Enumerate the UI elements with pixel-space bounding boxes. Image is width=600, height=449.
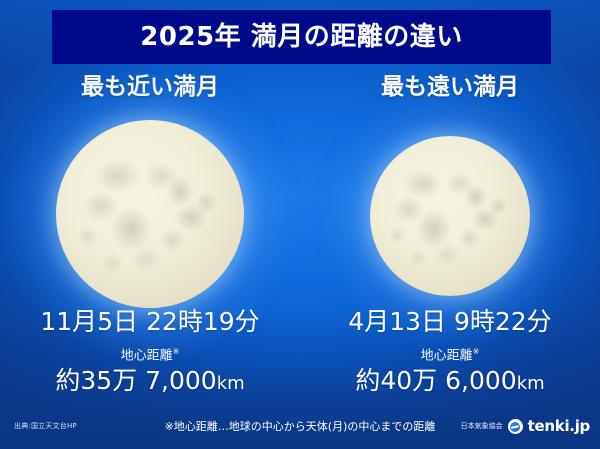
- page-title: 2025年 満月の距離の違い: [140, 24, 462, 50]
- distance-label-text-nearest: 地心距離: [121, 348, 173, 363]
- tenki-globe-icon: [508, 419, 523, 434]
- column-heading-nearest: 最も近い満月: [0, 66, 300, 99]
- distance-label-mark-nearest: ※: [173, 347, 180, 356]
- brand-logo: 日本気象協会 tenki.jp: [461, 419, 590, 434]
- moon-datetime-farthest: 4月13日 9時22分: [300, 309, 600, 334]
- moon-disc-nearest: [56, 120, 244, 308]
- distance-unit-nearest: km: [217, 373, 245, 394]
- distance-number-nearest: 約35万 7,000: [55, 366, 216, 395]
- distance-label-mark-farthest: ※: [473, 347, 480, 356]
- distance-label-nearest: 地心距離※: [0, 348, 300, 362]
- distance-label-text-farthest: 地心距離: [421, 348, 473, 363]
- moon-disc-farthest: [370, 136, 530, 296]
- column-heading-farthest: 最も遠い満月: [300, 66, 600, 99]
- distance-value-nearest: 約35万 7,000km: [0, 368, 300, 393]
- footer-bar: 出典:国立天文台HP ※地心距離…地球の中心から天体(月)の中心までの距離 日本…: [0, 409, 600, 449]
- moon-image-nearest: [56, 120, 244, 308]
- column-nearest-full-moon: 最も近い満月 11月5日 22時19分 地心距離※ 約35万 7,000km: [0, 66, 300, 406]
- distance-unit-farthest: km: [517, 373, 545, 394]
- brand-association-label: 日本気象協会: [461, 423, 503, 430]
- distance-label-farthest: 地心距離※: [300, 348, 600, 362]
- infographic-canvas: 2025年 満月の距離の違い 最も近い満月 11月5日 22時19分 地心距離※…: [0, 0, 600, 449]
- column-farthest-full-moon: 最も遠い満月 4月13日 9時22分 地心距離※ 約40万 6,000km: [300, 66, 600, 406]
- distance-number-farthest: 約40万 6,000: [355, 366, 516, 395]
- moon-image-farthest: [370, 136, 530, 296]
- moon-limb-shading: [370, 136, 530, 296]
- brand-name-label: tenki.jp: [528, 419, 590, 434]
- distance-value-farthest: 約40万 6,000km: [300, 368, 600, 393]
- moon-limb-shading: [56, 120, 244, 308]
- title-banner: 2025年 満月の距離の違い: [52, 10, 551, 64]
- moon-datetime-nearest: 11月5日 22時19分: [0, 309, 300, 334]
